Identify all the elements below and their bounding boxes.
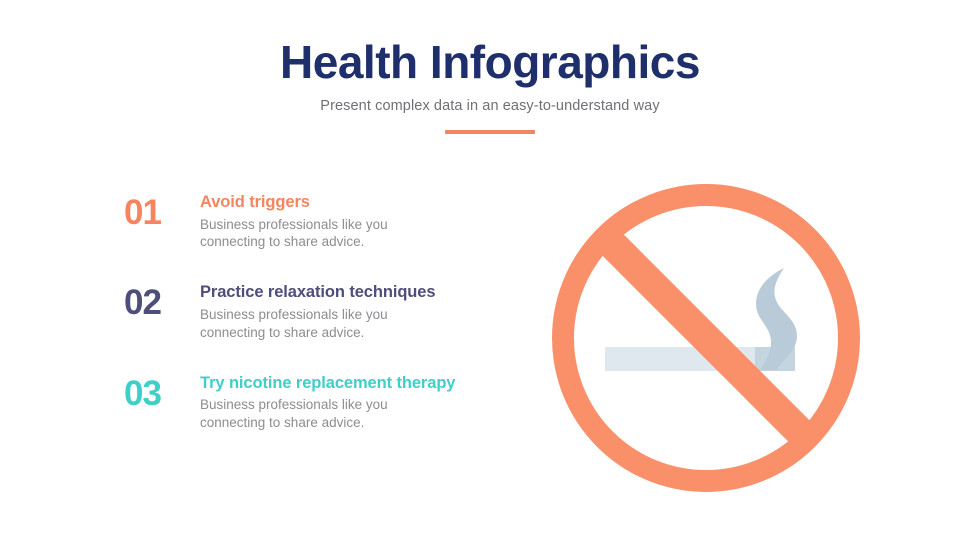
title-accent-bar: [445, 130, 535, 134]
step-number-01: 01: [124, 192, 200, 230]
list-item[interactable]: 01 Avoid triggers Business professionals…: [124, 192, 524, 251]
step-title-02: Practice relaxation techniques: [200, 282, 524, 303]
step-body-01: Avoid triggers Business professionals li…: [200, 192, 524, 251]
list-item[interactable]: 02 Practice relaxation techniques Busine…: [124, 282, 524, 341]
step-title-01: Avoid triggers: [200, 192, 524, 213]
step-number-03: 03: [124, 373, 200, 411]
step-description-02: Business professionals like you connecti…: [200, 306, 524, 342]
page-title: Health Infographics: [0, 38, 980, 86]
step-description-01: Business professionals like you connecti…: [200, 216, 524, 252]
slide-header: Health Infographics Present complex data…: [0, 38, 980, 134]
list-item[interactable]: 03 Try nicotine replacement therapy Busi…: [124, 373, 524, 432]
page-subtitle: Present complex data in an easy-to-under…: [0, 98, 980, 114]
slide-root: Health Infographics Present complex data…: [0, 0, 980, 551]
steps-list: 01 Avoid triggers Business professionals…: [124, 192, 524, 463]
step-title-03: Try nicotine replacement therapy: [200, 373, 524, 394]
no-smoking-illustration: [548, 180, 868, 500]
no-smoking-icon: [548, 180, 868, 500]
step-description-03: Business professionals like you connecti…: [200, 396, 524, 432]
step-body-02: Practice relaxation techniques Business …: [200, 282, 524, 341]
step-number-02: 02: [124, 282, 200, 320]
step-body-03: Try nicotine replacement therapy Busines…: [200, 373, 524, 432]
